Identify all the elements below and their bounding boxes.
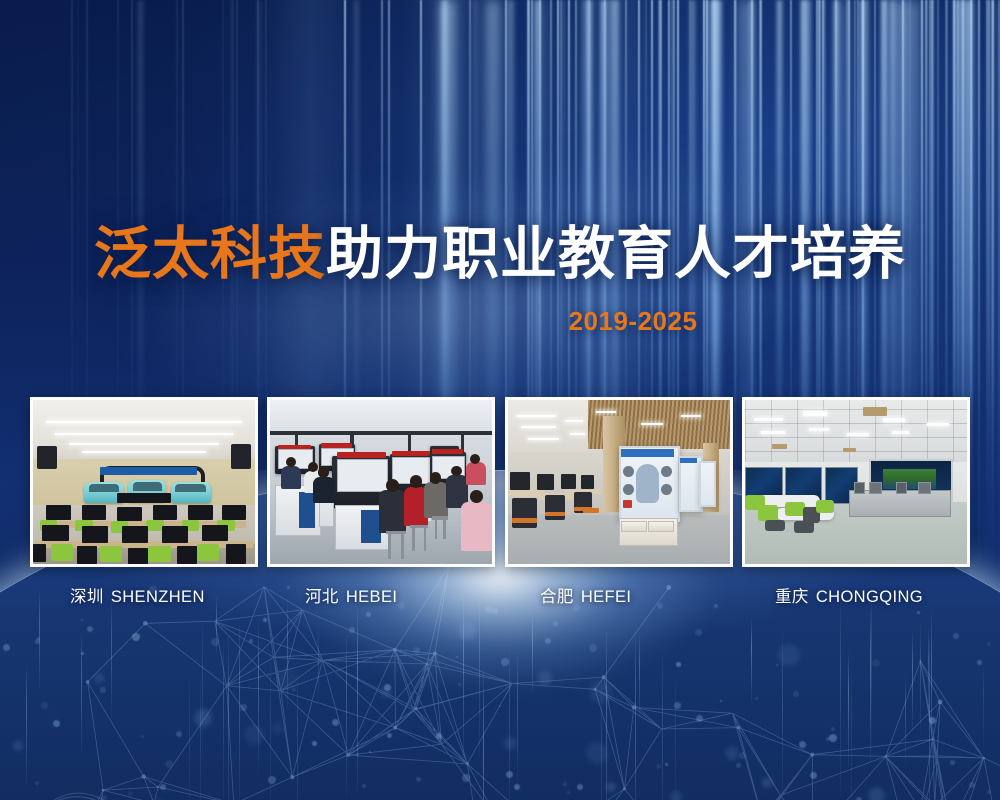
headline-brand: 泛太科技 [94,222,326,286]
photo-hebei [270,400,492,564]
caption-chongqing: 重庆CHONGQING [735,583,970,611]
photo-hefei [508,400,730,564]
photo-gallery [30,397,970,567]
year-range: 2019-2025 [0,306,1000,337]
headline: 泛太科技助力职业教育人才培养 [0,226,1000,283]
promo-banner: 泛太科技助力职业教育人才培养 2019-2025 [0,0,1000,800]
caption-hebei-en: HEBEI [346,588,398,606]
photo-shenzhen [33,400,255,564]
gallery-card-shenzhen[interactable] [30,397,258,567]
gallery-card-chongqing[interactable] [742,397,970,567]
photo-chongqing [745,400,967,564]
caption-hefei-en: HEFEI [581,588,632,606]
gallery-card-hebei[interactable] [267,397,495,567]
caption-hefei-cn: 合肥 [540,588,574,606]
headline-rest: 助力职业教育人才培养 [326,222,906,286]
caption-hebei: 河北HEBEI [265,583,500,611]
gallery-captions: 深圳SHENZHEN 河北HEBEI 合肥HEFEI 重庆CHONGQING [30,583,970,611]
caption-hebei-cn: 河北 [305,588,339,606]
gallery-card-hefei[interactable] [505,397,733,567]
caption-shenzhen: 深圳SHENZHEN [30,583,265,611]
caption-hefei: 合肥HEFEI [500,583,735,611]
caption-chongqing-en: CHONGQING [816,588,923,606]
year-range-text: 2019-2025 [569,306,698,337]
caption-shenzhen-cn: 深圳 [70,588,104,606]
caption-chongqing-cn: 重庆 [775,588,809,606]
caption-shenzhen-en: SHENZHEN [111,588,205,606]
